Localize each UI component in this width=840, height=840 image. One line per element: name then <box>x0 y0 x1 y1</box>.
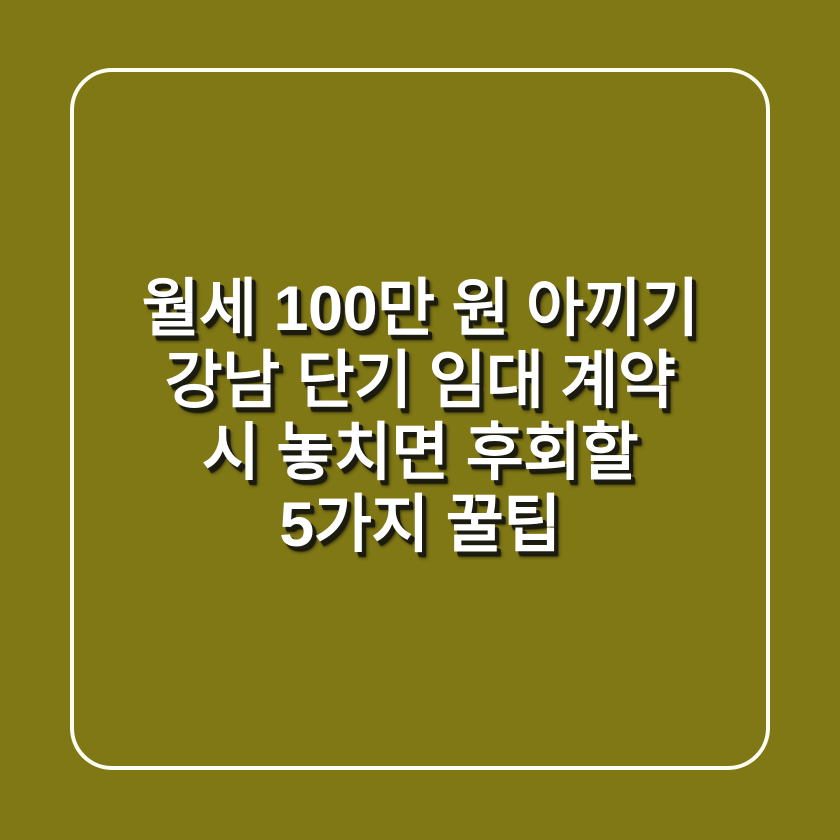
headline-line-3: 시 놓치면 후회할 <box>202 417 638 489</box>
thumbnail-card: 월세 100만 원 아끼기 강남 단기 임대 계약 시 놓치면 후회할 5가지 … <box>0 0 840 840</box>
headline-line-2: 강남 단기 임대 계약 <box>165 345 676 417</box>
headline-line-4: 5가지 꿀팁 <box>279 489 560 561</box>
headline-line-1: 월세 100만 원 아끼기 <box>142 273 699 345</box>
headline-text-block: 월세 100만 원 아끼기 강남 단기 임대 계약 시 놓치면 후회할 5가지 … <box>70 273 770 561</box>
